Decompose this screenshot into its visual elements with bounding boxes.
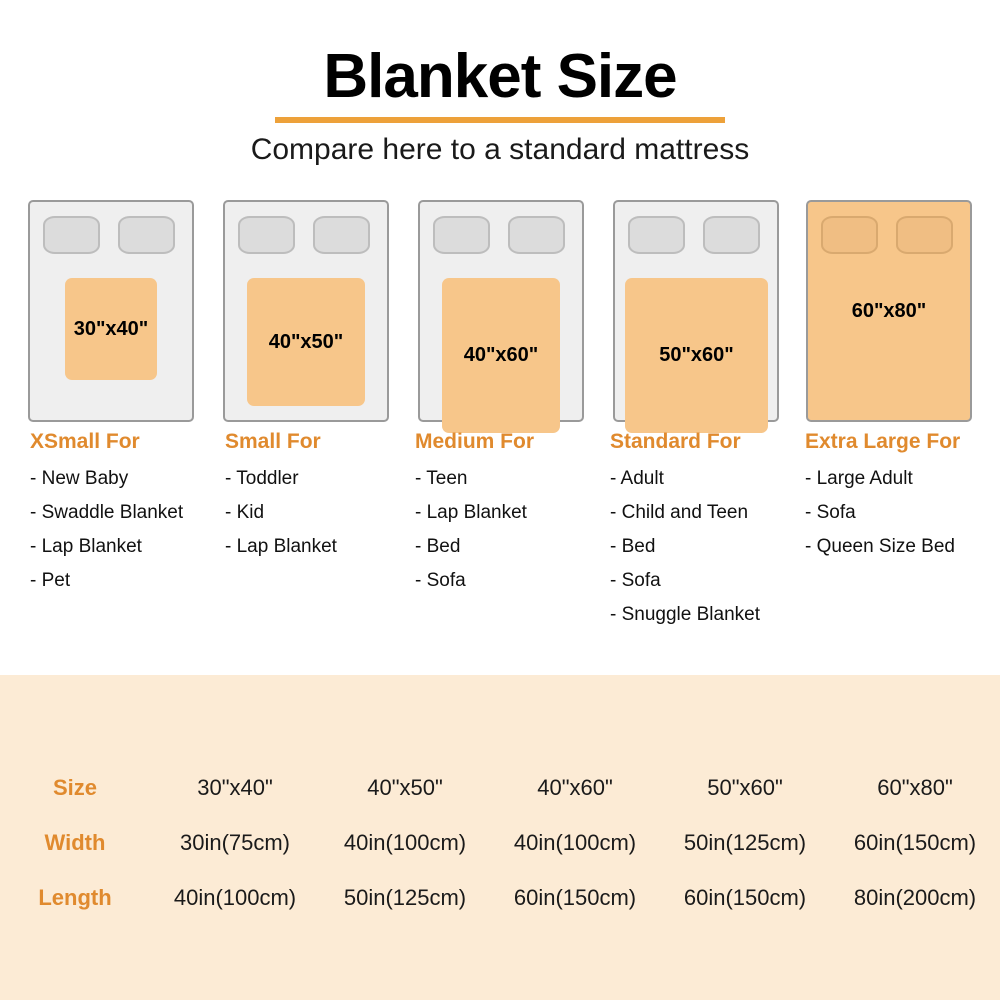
category-column-1: XSmall For- New Baby- Swaddle Blanket- L… [30, 430, 230, 604]
blanket-size-label: 40"x60" [464, 344, 539, 367]
list-item: - Child and Teen [610, 502, 810, 524]
bed-diagrams-row: 30"x40"40"x50"40"x60"50"x60"60"x80" [0, 200, 1000, 430]
table-cell: 40in(100cm) [490, 830, 660, 856]
bed-diagram-5: 60"x80" [806, 200, 972, 422]
table-row-header: Width [0, 830, 150, 856]
category-heading: Standard For [610, 430, 810, 454]
title-underline-rule [275, 117, 725, 123]
table-cell: 40"x50" [320, 775, 490, 801]
page-title: Blanket Size [0, 46, 1000, 108]
table-row: Length40in(100cm)50in(125cm)60in(150cm)6… [0, 870, 1000, 925]
pillow-icon-right [703, 216, 760, 254]
table-cell: 80in(200cm) [830, 885, 1000, 911]
list-item: - Snuggle Blanket [610, 604, 810, 626]
list-item: - Teen [415, 468, 615, 490]
blanket-size-label: 60"x80" [852, 300, 927, 323]
bed-diagram-4: 50"x60" [613, 200, 779, 422]
table-cell: 30"x40" [150, 775, 320, 801]
list-item: - Large Adult [805, 468, 1000, 490]
table-cell: 60"x80" [830, 775, 1000, 801]
list-item: - Lap Blanket [225, 536, 425, 558]
table-cell: 40"x60" [490, 775, 660, 801]
category-heading: Extra Large For [805, 430, 1000, 454]
list-item: - New Baby [30, 468, 230, 490]
category-column-2: Small For- Toddler- Kid- Lap Blanket [225, 430, 425, 570]
category-column-3: Medium For- Teen- Lap Blanket- Bed- Sofa [415, 430, 615, 604]
table-cell: 60in(150cm) [830, 830, 1000, 856]
table-cell: 30in(75cm) [150, 830, 320, 856]
table-row: Width30in(75cm)40in(100cm)40in(100cm)50i… [0, 815, 1000, 870]
list-item: - Kid [225, 502, 425, 524]
list-item: - Pet [30, 570, 230, 592]
page-subtitle: Compare here to a standard mattress [0, 133, 1000, 166]
bed-diagram-1: 30"x40" [28, 200, 194, 422]
category-heading: Medium For [415, 430, 615, 454]
blanket-overlay: 60"x80" [808, 202, 970, 420]
pillow-icon-left [433, 216, 490, 254]
dimension-table: Size30"x40"40"x50"40"x60"50"x60"60"x80"W… [0, 760, 1000, 925]
list-item: - Lap Blanket [30, 536, 230, 558]
blanket-overlay: 50"x60" [625, 278, 768, 433]
list-item: - Swaddle Blanket [30, 502, 230, 524]
blanket-size-label: 50"x60" [659, 344, 734, 367]
blanket-size-label: 40"x50" [269, 331, 344, 354]
table-row-header: Size [0, 775, 150, 801]
table-cell: 50in(125cm) [320, 885, 490, 911]
blanket-overlay: 40"x50" [247, 278, 365, 406]
table-cell: 60in(150cm) [490, 885, 660, 911]
table-row-header: Length [0, 885, 150, 911]
mattress: 60"x80" [806, 200, 972, 422]
mattress: 40"x60" [418, 200, 584, 422]
blanket-size-label: 30"x40" [74, 318, 149, 341]
pillow-icon-left [238, 216, 295, 254]
pillow-icon-right [508, 216, 565, 254]
list-item: - Sofa [415, 570, 615, 592]
table-cell: 40in(100cm) [150, 885, 320, 911]
table-cell: 50"x60" [660, 775, 830, 801]
table-cell: 40in(100cm) [320, 830, 490, 856]
category-heading: XSmall For [30, 430, 230, 454]
list-item: - Bed [415, 536, 615, 558]
list-item: - Adult [610, 468, 810, 490]
list-item: - Sofa [610, 570, 810, 592]
bed-diagram-3: 40"x60" [418, 200, 584, 422]
mattress: 50"x60" [613, 200, 779, 422]
table-cell: 50in(125cm) [660, 830, 830, 856]
list-item: - Lap Blanket [415, 502, 615, 524]
list-item: - Toddler [225, 468, 425, 490]
blanket-overlay: 30"x40" [65, 278, 157, 380]
mattress: 40"x50" [223, 200, 389, 422]
list-item: - Queen Size Bed [805, 536, 1000, 558]
bed-diagram-2: 40"x50" [223, 200, 389, 422]
table-cell: 60in(150cm) [660, 885, 830, 911]
list-item: - Sofa [805, 502, 1000, 524]
pillow-icon-right [313, 216, 370, 254]
category-lists-row: XSmall For- New Baby- Swaddle Blanket- L… [0, 430, 1000, 660]
pillow-icon-left [628, 216, 685, 254]
dimension-table-panel: Size30"x40"40"x50"40"x60"50"x60"60"x80"W… [0, 675, 1000, 1000]
list-item: - Bed [610, 536, 810, 558]
blanket-overlay: 40"x60" [442, 278, 560, 433]
pillow-icon-right [118, 216, 175, 254]
page-header: Blanket Size Compare here to a standard … [0, 0, 1000, 166]
category-column-4: Standard For- Adult- Child and Teen- Bed… [610, 430, 810, 638]
pillow-icon-left [43, 216, 100, 254]
category-heading: Small For [225, 430, 425, 454]
mattress: 30"x40" [28, 200, 194, 422]
category-column-5: Extra Large For- Large Adult- Sofa- Quee… [805, 430, 1000, 570]
table-row: Size30"x40"40"x50"40"x60"50"x60"60"x80" [0, 760, 1000, 815]
